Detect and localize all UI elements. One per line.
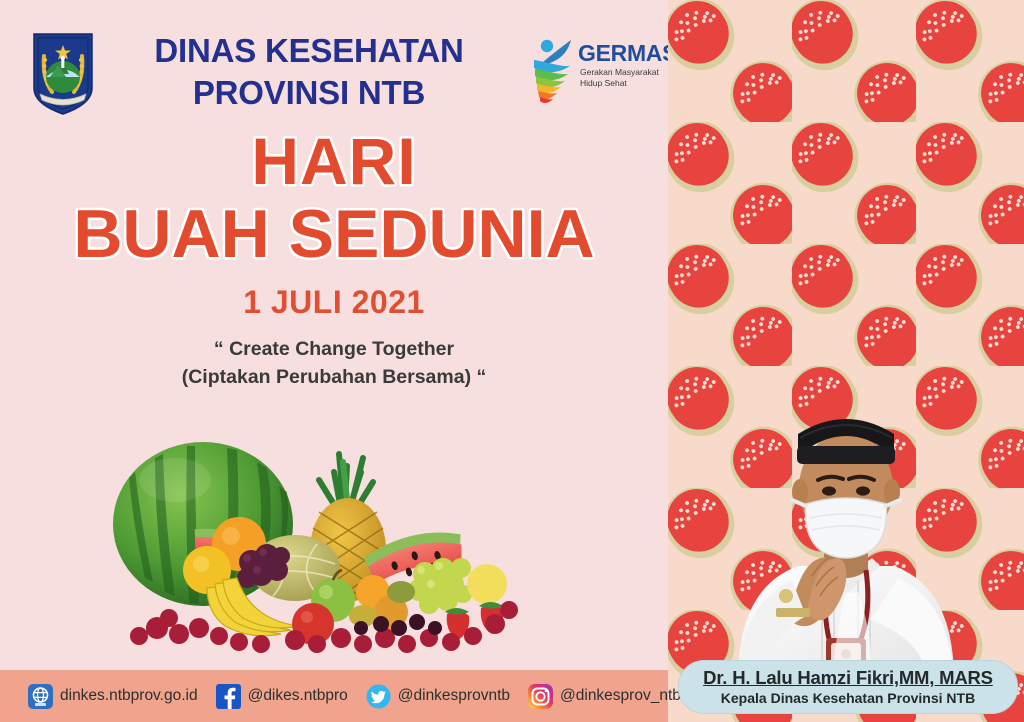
nameplate-name: Dr. H. Lalu Hamzi Fikri,MM, MARS (679, 666, 1017, 689)
footer-label-facebook: @dikes.ntbpro (248, 687, 348, 705)
organisation-title: DINAS KESEHATAN PROVINSI NTB (104, 30, 514, 114)
right-panel (668, 0, 1024, 722)
germas-figure-icon (526, 36, 578, 104)
instagram-icon (528, 684, 553, 709)
header-row: DINAS KESEHATAN PROVINSI NTB (0, 14, 668, 116)
fruit-arrangement-illustration (95, 432, 525, 657)
twitter-icon (366, 684, 391, 709)
footer-item-instagram[interactable]: @dinkesprov_ntb (528, 684, 681, 709)
poster-root: DINAS KESEHATAN PROVINSI NTB (0, 0, 1024, 722)
germas-sub-line1: Gerakan Masyarakat (580, 67, 659, 77)
social-footer-bar: dinkes.ntbprov.go.id @dikes.ntbpro @dink… (0, 670, 668, 722)
ntb-province-emblem (32, 32, 94, 116)
footer-item-facebook[interactable]: @dikes.ntbpro (216, 684, 348, 709)
tagline: “ Create Change Together (Ciptakan Perub… (0, 336, 668, 391)
nameplate-role: Kepala Dinas Kesehatan Provinsi NTB (679, 689, 1017, 707)
footer-label-website: dinkes.ntbprov.go.id (60, 687, 198, 705)
footer-item-website[interactable]: dinkes.ntbprov.go.id (28, 684, 198, 709)
footer-item-twitter[interactable]: @dinkesprovntb (366, 684, 510, 709)
title-line2: BUAH SEDUNIA (0, 200, 668, 268)
org-title-line1: DINAS KESEHATAN (154, 32, 463, 69)
germas-logo: GERMAS Gerakan Masyarakat Hidup Sehat (526, 36, 666, 108)
globe-icon (28, 684, 53, 709)
footer-label-twitter: @dinkesprovntb (398, 687, 510, 705)
germas-wordmark: GERMAS (578, 42, 668, 65)
tagline-line1: “ Create Change Together (214, 338, 454, 360)
title-line1: HARI (0, 128, 668, 194)
germas-sub-line2: Hidup Sehat (580, 78, 627, 88)
footer-label-instagram: @dinkesprov_ntb (560, 687, 681, 705)
official-nameplate: Dr. H. Lalu Hamzi Fikri,MM, MARS Kepala … (678, 660, 1018, 714)
org-title-line2: PROVINSI NTB (104, 72, 514, 114)
germas-subtext: Gerakan Masyarakat Hidup Sehat (580, 67, 668, 89)
event-date: 1 JULI 2021 (0, 284, 668, 321)
tagline-line2: (Ciptakan Perubahan Bersama) “ (0, 364, 668, 392)
left-panel: DINAS KESEHATAN PROVINSI NTB (0, 0, 668, 722)
facebook-icon (216, 684, 241, 709)
official-portrait (686, 380, 1006, 680)
